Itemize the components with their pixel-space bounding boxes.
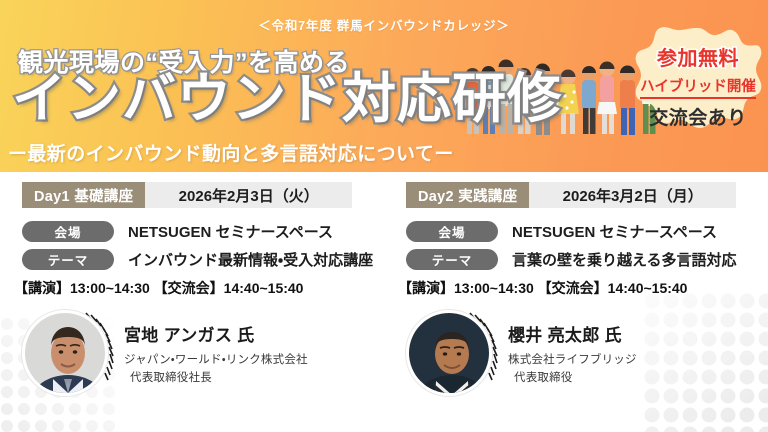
day2-speaker-avatar (406, 310, 492, 396)
theme-label: テーマ (406, 249, 498, 270)
badge-networking-label: 交流会あり (649, 103, 747, 130)
status-badge: 参加無料 ハイブリッド開催 交流会あり (634, 26, 762, 146)
venue-label: 会場 (22, 221, 114, 242)
day2-speaker-org: 株式会社ライフブリッジ (508, 351, 637, 367)
day1-theme-row: テーマ インバウンド最新情報・受入対応講座 (22, 249, 384, 270)
day1-speaker-role: 代表取締役社長 (124, 369, 308, 385)
day1-header-row: Day1 基礎講座 2026年2月3日（火） (22, 182, 352, 208)
day1-speaker-avatar (22, 310, 108, 396)
venue-label: 会場 (406, 221, 498, 242)
day1-column: Day1 基礎講座 2026年2月3日（火） 会場 NETSUGEN セミナース… (0, 182, 384, 432)
day2-speaker-role: 代表取締役 (508, 369, 637, 385)
day1-venue-value: NETSUGEN セミナースペース (128, 221, 333, 242)
day2-column: Day2 実践講座 2026年3月2日（月） 会場 NETSUGEN セミナース… (384, 182, 768, 432)
day2-venue-value: NETSUGEN セミナースペース (512, 221, 717, 242)
day2-header-row: Day2 実践講座 2026年3月2日（月） (406, 182, 736, 208)
day2-speaker-name: 櫻井 亮太郎 氏 (508, 321, 637, 346)
theme-label: テーマ (22, 249, 114, 270)
day1-tag: Day1 基礎講座 (22, 182, 145, 208)
day2-tag: Day2 実践講座 (406, 182, 529, 208)
day1-theme-value: インバウンド最新情報・受入対応講座 (128, 249, 373, 270)
day1-schedule: 【講演】13:00~14:30 【交流会】14:40~15:40 (14, 278, 384, 298)
header-tagline: ー最新のインバウンド動向と多言語対応についてー (8, 139, 454, 166)
day1-speaker-org: ジャパン・ワールド・リンク株式会社 (124, 351, 308, 367)
event-poster: ＜令和7年度 群馬インバウンドカレッジ＞ (0, 0, 768, 432)
poster-header: ＜令和7年度 群馬インバウンドカレッジ＞ (0, 0, 768, 172)
badge-free-label: 参加無料 (657, 42, 739, 71)
day2-theme-row: テーマ 言葉の壁を乗り越える多言語対応 (406, 249, 768, 270)
day1-speaker: 宮地 アンガス 氏 ジャパン・ワールド・リンク株式会社 代表取締役社長 (22, 310, 308, 396)
page-title: インバウンド対応研修 (12, 72, 562, 126)
day2-speaker: 櫻井 亮太郎 氏 株式会社ライフブリッジ 代表取締役 (406, 310, 637, 396)
day1-venue-row: 会場 NETSUGEN セミナースペース (22, 221, 384, 242)
day1-speaker-name: 宮地 アンガス 氏 (124, 321, 308, 346)
day2-theme-value: 言葉の壁を乗り越える多言語対応 (512, 249, 737, 270)
badge-hybrid-label: ハイブリッド開催 (640, 75, 756, 99)
day2-date: 2026年3月2日（月） (529, 182, 736, 208)
day1-date: 2026年2月3日（火） (145, 182, 352, 208)
day2-venue-row: 会場 NETSUGEN セミナースペース (406, 221, 768, 242)
day2-schedule: 【講演】13:00~14:30 【交流会】14:40~15:40 (398, 278, 768, 298)
